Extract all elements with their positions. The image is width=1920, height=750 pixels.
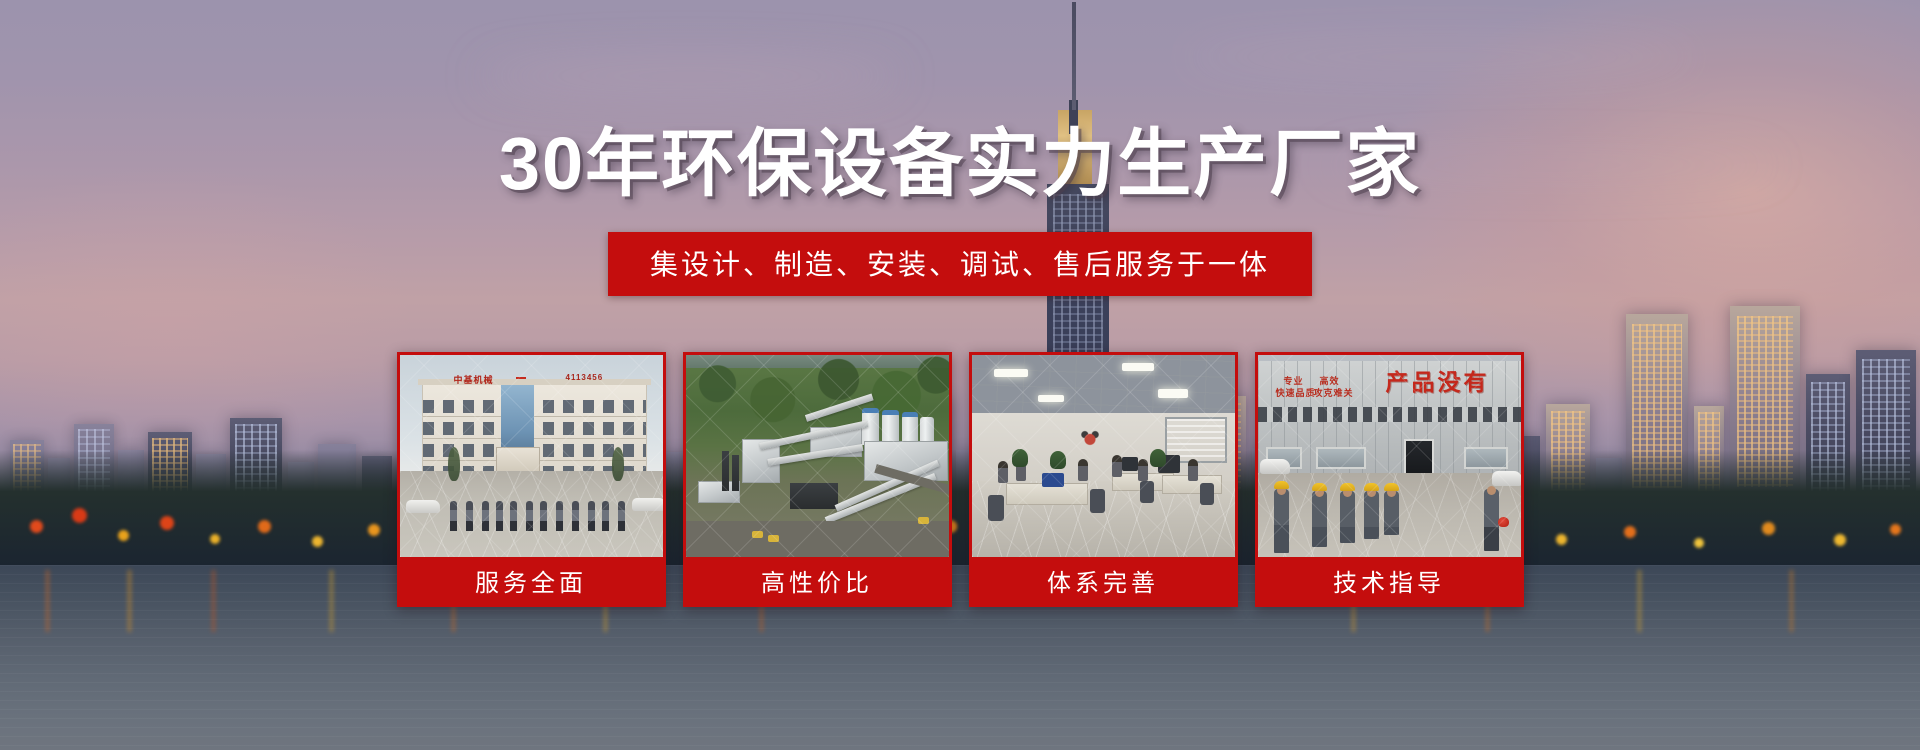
card-caption: 体系完善	[972, 557, 1235, 604]
company-phone-number: 4113456	[566, 373, 604, 382]
page-title: 30年环保设备实力生产厂家	[0, 104, 1920, 211]
parked-car	[1260, 459, 1290, 474]
building-roofline	[418, 379, 651, 385]
red-helmet	[1498, 517, 1509, 527]
factory-window	[1464, 447, 1508, 469]
factory-slogan: 高效	[1320, 377, 1340, 387]
laptop	[1042, 473, 1064, 487]
wall-decal	[1077, 425, 1103, 449]
cloud-wisp	[1180, 36, 1700, 78]
feature-card[interactable]: 专业 快速品质 高效 攻克难关 产品没有	[1255, 352, 1524, 607]
hardhat-icon	[1340, 483, 1355, 491]
feature-card[interactable]: 体系完善	[969, 352, 1238, 607]
feature-card[interactable]: 高性价比	[683, 352, 952, 607]
factory-banner-text: 产品没有	[1386, 363, 1490, 397]
feature-card-row: 中基机械 4113456 服务全面	[0, 352, 1920, 607]
subtitle-banner: 集设计、制造、安装、调试、售后服务于一体	[608, 232, 1312, 296]
factory-slogan: 快速品质	[1276, 389, 1316, 399]
cloud-wisp	[480, 58, 900, 94]
hardhat-icon	[1384, 483, 1399, 491]
card-photo-company-building: 中基机械 4113456	[400, 355, 663, 557]
factory-slogan: 攻克难关	[1314, 389, 1354, 399]
office-chair	[1140, 481, 1154, 503]
parked-car	[632, 498, 663, 511]
factory-window	[1316, 447, 1366, 469]
card-caption: 服务全面	[400, 557, 663, 604]
hardhat-icon	[1274, 481, 1289, 489]
feature-card[interactable]: 中基机械 4113456 服务全面	[397, 352, 666, 607]
hero-banner: 30年环保设备实力生产厂家 集设计、制造、安装、调试、售后服务于一体	[0, 0, 1920, 750]
tower-spire	[1072, 2, 1076, 110]
cement-silo	[862, 411, 879, 445]
card-caption: 高性价比	[686, 557, 949, 604]
card-photo-office-interior	[972, 355, 1235, 557]
factory-slogan: 专业	[1284, 377, 1304, 387]
office-chair	[988, 495, 1004, 521]
subtitle-banner-wrap: 集设计、制造、安装、调试、售后服务于一体	[0, 232, 1920, 296]
office-chair	[1090, 489, 1105, 513]
parked-car	[406, 500, 440, 513]
card-caption: 技术指导	[1258, 557, 1521, 604]
parked-car	[1492, 471, 1521, 486]
card-photo-factory-workers: 专业 快速品质 高效 攻克难关 产品没有	[1258, 355, 1521, 557]
card-photo-industrial-plant	[686, 355, 949, 557]
computer-monitor	[1122, 457, 1138, 471]
office-chair	[1200, 483, 1214, 505]
company-signage: 中基机械	[454, 373, 494, 386]
hardhat-icon	[1312, 483, 1327, 491]
hardhat-icon	[1364, 483, 1379, 491]
